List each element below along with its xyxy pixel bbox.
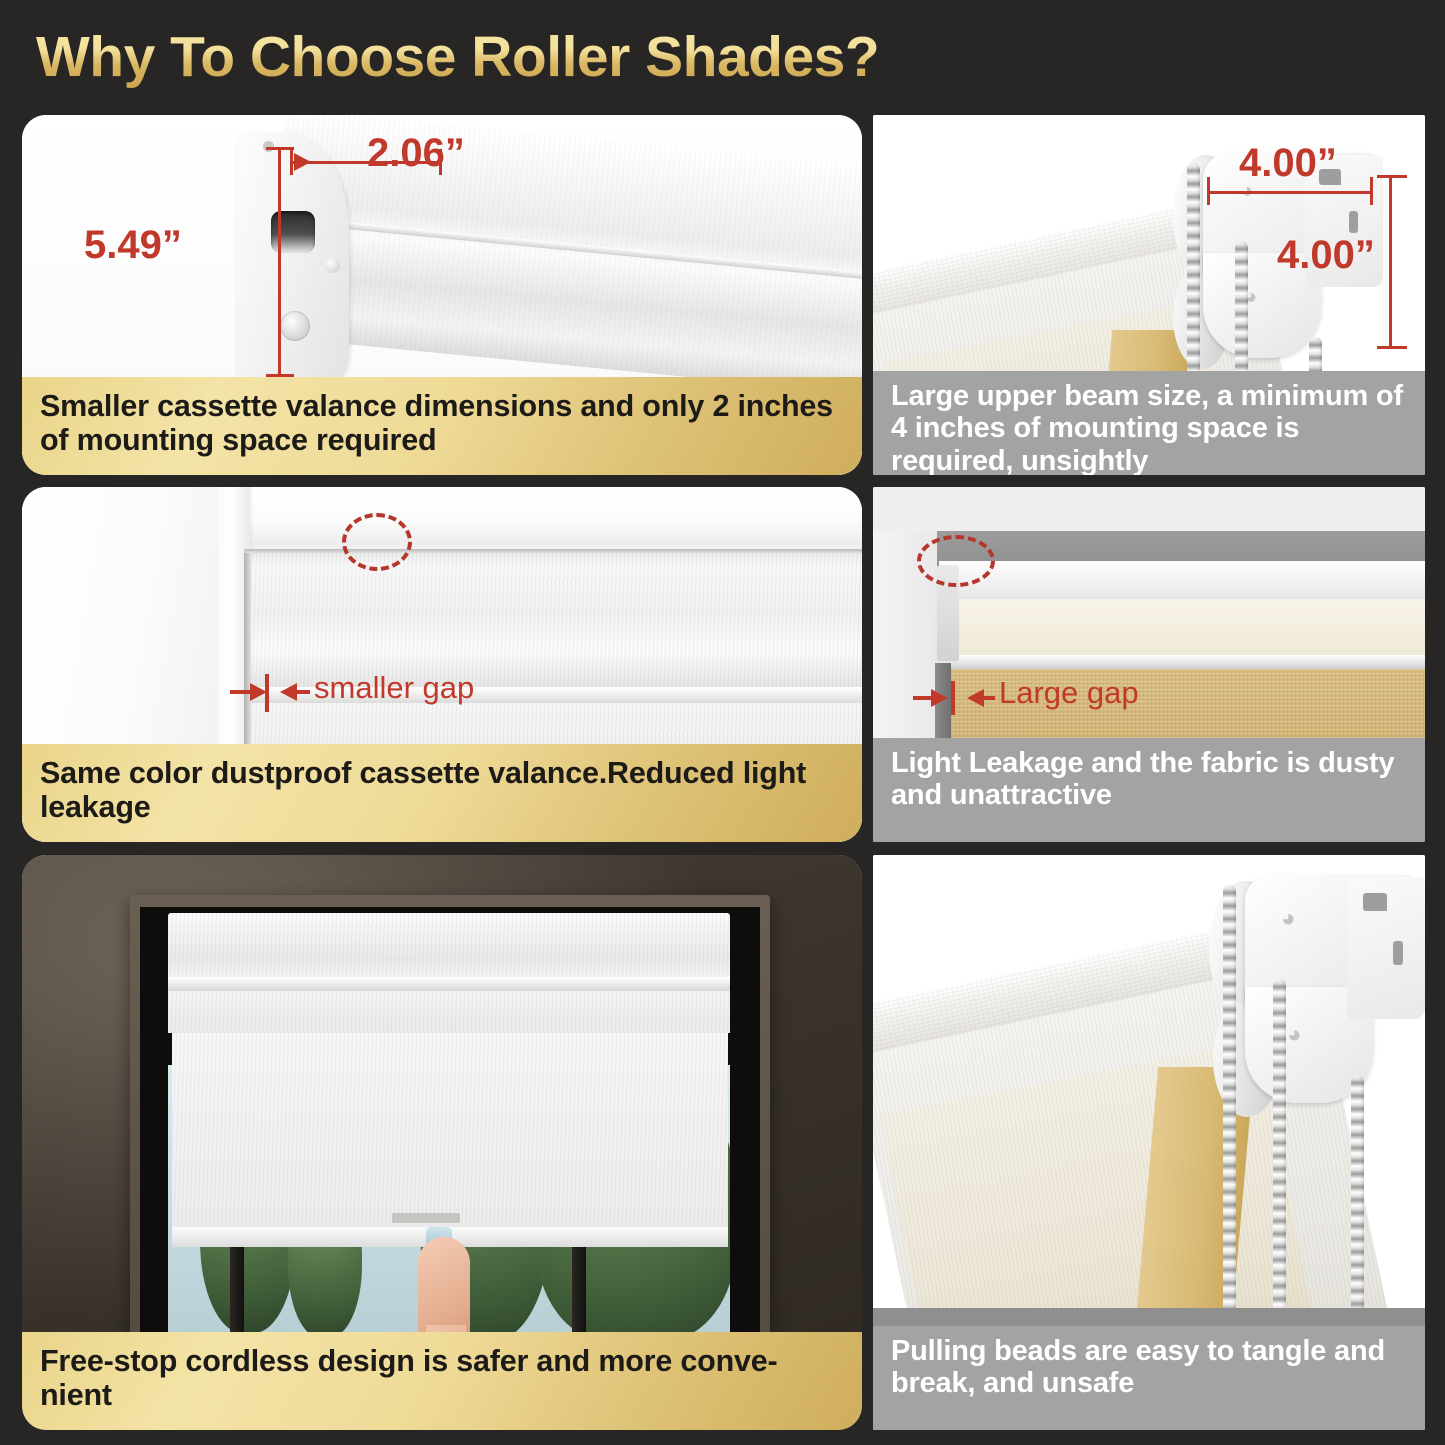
panel-con-light-leakage[interactable]: Large gap Light Leakage and the fabric i…: [873, 487, 1425, 842]
caption-pro-cordless-design: Free-stop cordless design is safer and m…: [22, 1332, 862, 1430]
bracket-etch-icon-lower: ◕: [1287, 1023, 1302, 1047]
width-dimension-tick-right: [1370, 177, 1373, 205]
cassette-head: [168, 913, 730, 981]
gap-callout-label: Large gap: [999, 675, 1139, 711]
height-dimension-line: [278, 147, 281, 377]
panel-pro-cordless-design[interactable]: Free-stop cordless design is safer and m…: [22, 855, 862, 1430]
bead-chain-middle: [1235, 241, 1248, 389]
bead-chain-front: [1187, 163, 1200, 388]
bead-chain-rear: [1351, 1075, 1364, 1345]
bracket-plate: [1347, 877, 1425, 1019]
gap-arrow-left-tail: [913, 696, 933, 700]
shade-fabric: [172, 1033, 728, 1233]
gap-arrow-left: [931, 689, 948, 707]
height-dimension-tick-top: [1377, 175, 1407, 178]
width-dimension-label: 2.06”: [367, 131, 465, 176]
bead-chain-front: [1223, 885, 1236, 1345]
gap-arrow-right: [280, 683, 297, 701]
gap-arrow-left-tail: [230, 690, 252, 694]
caption-con-mounting-size: Large upper beam size, a minimum of 4 in…: [873, 371, 1425, 475]
width-dimension-line: [1207, 191, 1373, 194]
gap-arrow-left: [250, 683, 267, 701]
brand-tag: [392, 1213, 460, 1223]
width-dimension-arrow: [294, 153, 311, 171]
caption-con-pulling-beads: Pulling beads are easy to tangle and bre…: [873, 1326, 1425, 1430]
caption-pro-light-leakage: Same color dustproof cassette valance.Re…: [22, 744, 862, 842]
height-dimension-label: 4.00”: [1277, 233, 1375, 278]
gap-arrow-right-tail: [983, 696, 995, 700]
panel-con-pulling-beads[interactable]: ◕ ◕ Pulling beads are easy to tangle and…: [873, 855, 1425, 1430]
caption-con-light-leakage: Light Leakage and the fabric is dusty an…: [873, 738, 1425, 842]
panel-pro-light-leakage[interactable]: smaller gap Same color dustproof cassett…: [22, 487, 862, 842]
height-dimension-tick-top: [266, 147, 294, 150]
window-frame-head: [218, 487, 862, 557]
gap-callout-label: smaller gap: [314, 670, 474, 706]
comparison-grid: 2.06” 5.49” Smaller cassette valance dim…: [0, 0, 1445, 1445]
width-dimension-label: 4.00”: [1239, 141, 1337, 186]
bead-chain-middle: [1273, 979, 1286, 1345]
height-dimension-line: [1389, 175, 1392, 349]
height-dimension-label: 5.49”: [84, 223, 182, 268]
caption-pro-mounting-size: Smaller cassette valance dimensions and …: [22, 377, 862, 475]
width-dimension-tick-left: [290, 149, 293, 175]
panel-con-mounting-size[interactable]: ◕ ◕ 4.00” 4.00” Large upper beam size, a…: [873, 115, 1425, 475]
gap-arrow-right-tail: [296, 690, 310, 694]
detail-highlight-circle: [917, 535, 995, 587]
panel-pro-mounting-size[interactable]: 2.06” 5.49” Smaller cassette valance dim…: [22, 115, 862, 475]
gap-marker: [951, 681, 955, 715]
detail-highlight-circle: [342, 513, 412, 571]
gap-arrow-right: [967, 689, 984, 707]
height-dimension-tick-bottom: [1377, 346, 1407, 349]
bracket-etch-icon: ◕: [1281, 907, 1296, 931]
width-dimension-tick-left: [1207, 177, 1210, 205]
